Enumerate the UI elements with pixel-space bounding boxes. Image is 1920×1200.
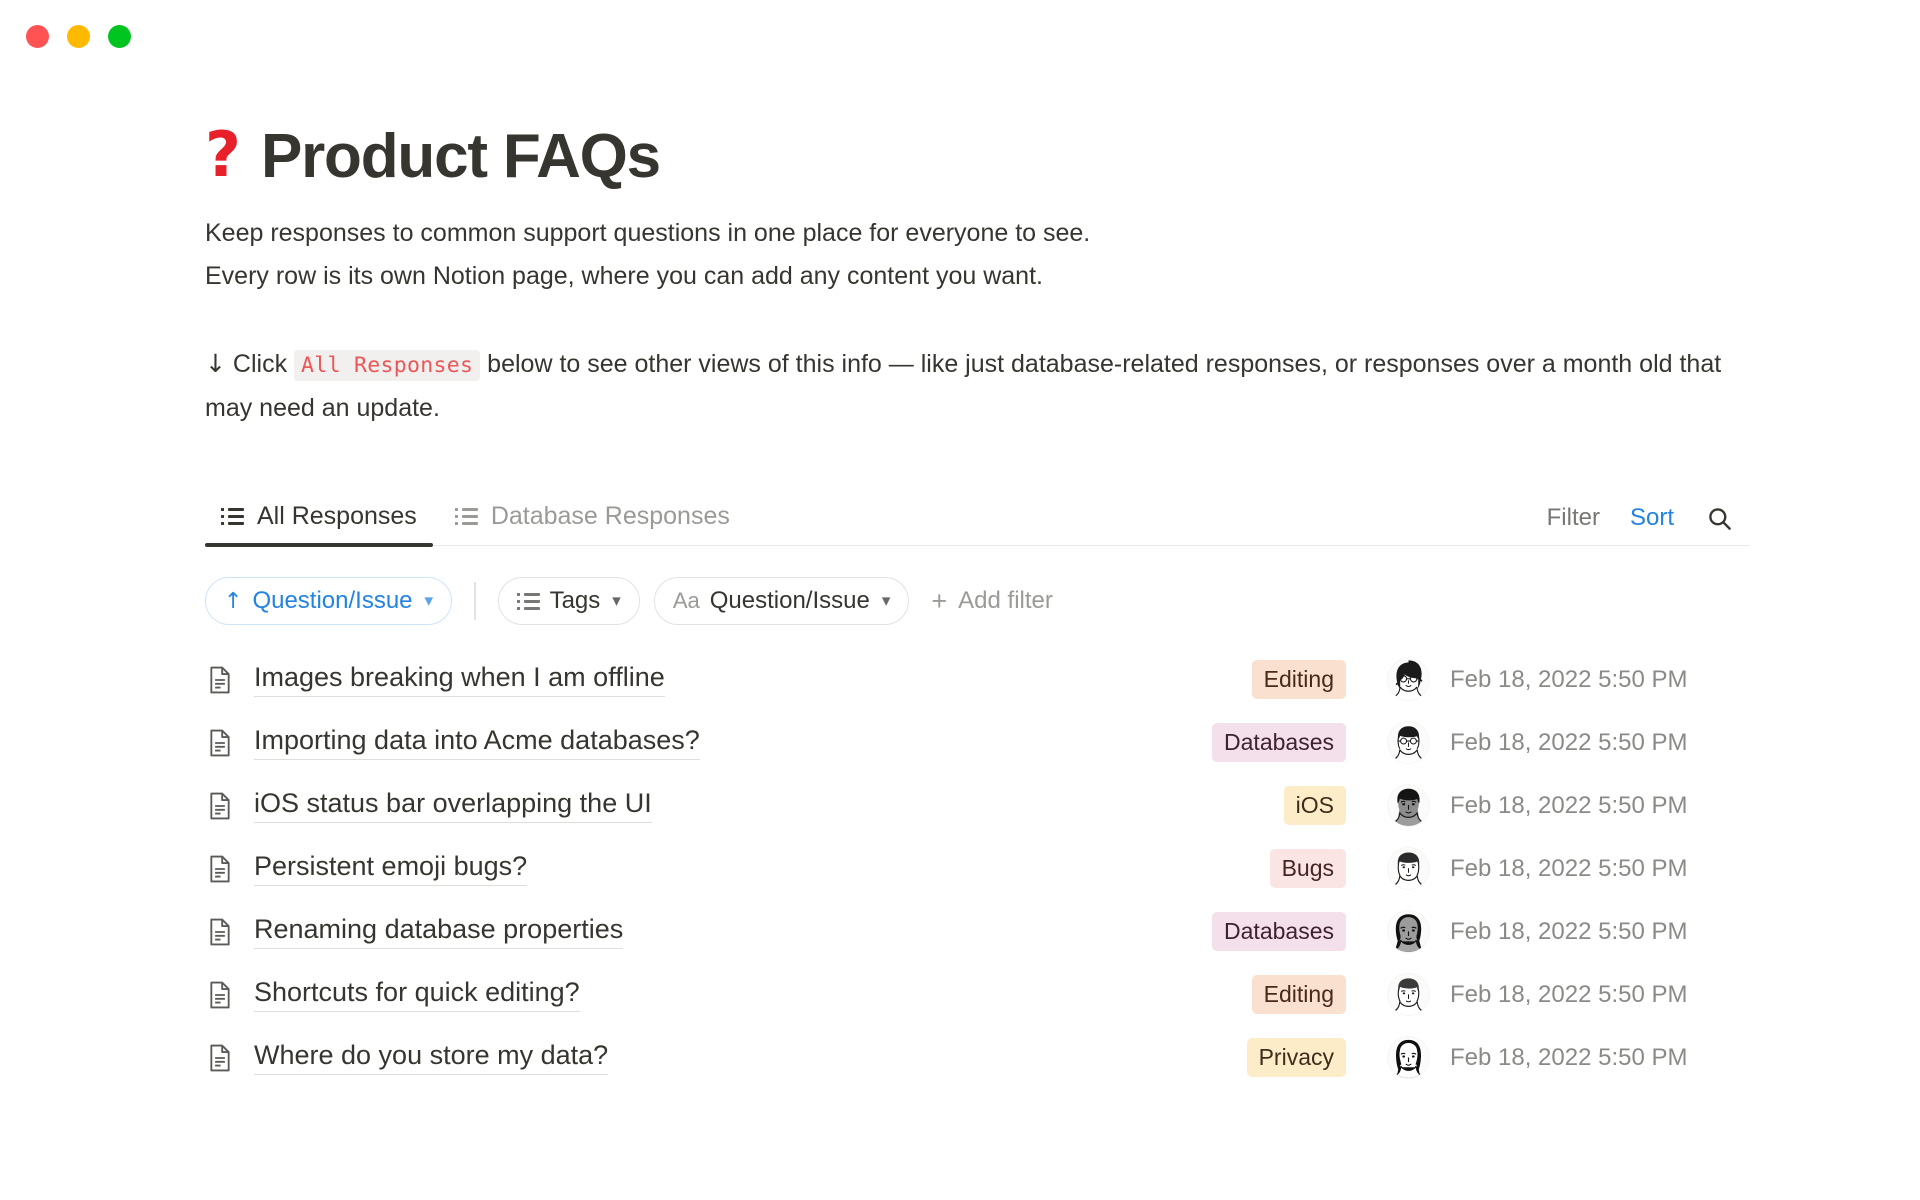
table-row[interactable]: iOS status bar overlapping the UIiOSFeb … [205, 774, 1750, 837]
window-zoom-button[interactable] [108, 25, 131, 48]
row-title[interactable]: Shortcuts for quick editing? [254, 977, 580, 1012]
table-row[interactable]: Where do you store my data?PrivacyFeb 18… [205, 1026, 1750, 1089]
window-minimize-button[interactable] [67, 25, 90, 48]
row-date[interactable]: Feb 18, 2022 5:50 PM [1450, 729, 1750, 757]
status-badge[interactable]: Databases [1212, 912, 1346, 951]
sort-ascending-icon: ↑ [224, 589, 242, 614]
row-tag-cell: Databases [1116, 723, 1366, 762]
description-line-2: Every row is its own Notion page, where … [205, 255, 1750, 298]
page-title: ? Product FAQs [205, 118, 1750, 196]
row-title[interactable]: Images breaking when I am offline [254, 662, 665, 697]
select-list-icon [517, 593, 540, 610]
filter-pill-tags[interactable]: Tags ▾ [498, 577, 640, 625]
filter-sort-pill-bar: ↑ Question/Issue ▾ Tags ▾ Aa Question/Is… [205, 576, 1750, 626]
page-document-icon [205, 852, 235, 886]
row-date[interactable]: Feb 18, 2022 5:50 PM [1450, 792, 1750, 820]
sort-pill-label: Question/Issue [252, 587, 412, 615]
callout-code-chip: All Responses [294, 350, 480, 381]
row-tag-cell: iOS [1116, 786, 1366, 825]
callout-prefix: Click [233, 350, 287, 378]
search-icon[interactable] [1704, 503, 1734, 533]
page-document-icon [205, 726, 235, 760]
row-tag-cell: Privacy [1116, 1038, 1366, 1077]
table-row[interactable]: Persistent emoji bugs?BugsFeb 18, 2022 5… [205, 837, 1750, 900]
avatar[interactable] [1388, 848, 1429, 889]
page-document-icon [205, 1041, 235, 1075]
table-row[interactable]: Renaming database propertiesDatabasesFeb… [205, 900, 1750, 963]
chevron-down-icon: ▾ [425, 591, 434, 611]
avatar[interactable] [1388, 785, 1429, 826]
status-badge[interactable]: Editing [1252, 975, 1346, 1014]
filter-button[interactable]: Filter [1547, 504, 1600, 532]
row-avatar-cell [1366, 974, 1450, 1015]
row-avatar-cell [1366, 848, 1450, 889]
row-tag-cell: Databases [1116, 912, 1366, 951]
row-avatar-cell [1366, 785, 1450, 826]
row-avatar-cell [1366, 659, 1450, 700]
description-line-1: Keep responses to common support questio… [205, 212, 1750, 255]
row-date[interactable]: Feb 18, 2022 5:50 PM [1450, 981, 1750, 1009]
filter-pill-question-issue[interactable]: Aa Question/Issue ▾ [654, 577, 910, 625]
page-title-text[interactable]: Product FAQs [261, 124, 660, 189]
row-avatar-cell [1366, 722, 1450, 763]
table-rows: Images breaking when I am offlineEditing… [205, 648, 1750, 1089]
row-title[interactable]: Renaming database properties [254, 914, 623, 949]
filter-pill-tags-label: Tags [550, 587, 601, 615]
filter-pill-question-issue-label: Question/Issue [710, 587, 870, 615]
avatar[interactable] [1388, 659, 1429, 700]
page-body: ? Product FAQs Keep responses to common … [0, 72, 1920, 1089]
table-row[interactable]: Images breaking when I am offlineEditing… [205, 648, 1750, 711]
row-date[interactable]: Feb 18, 2022 5:50 PM [1450, 918, 1750, 946]
view-toolbar: All Responses Database Responses Filter … [205, 484, 1750, 546]
page-document-icon [205, 915, 235, 949]
row-title[interactable]: Where do you store my data? [254, 1040, 608, 1075]
row-date[interactable]: Feb 18, 2022 5:50 PM [1450, 666, 1750, 694]
down-arrow-icon: ↓ [205, 349, 226, 378]
chevron-down-icon: ▾ [882, 591, 891, 611]
list-icon [221, 508, 244, 525]
row-avatar-cell [1366, 1037, 1450, 1078]
page-document-icon [205, 789, 235, 823]
page-document-icon [205, 663, 235, 697]
row-date[interactable]: Feb 18, 2022 5:50 PM [1450, 1044, 1750, 1072]
status-badge[interactable]: Databases [1212, 723, 1346, 762]
page-document-icon [205, 978, 235, 1012]
row-date[interactable]: Feb 18, 2022 5:50 PM [1450, 855, 1750, 883]
status-badge[interactable]: Bugs [1270, 849, 1346, 888]
row-title[interactable]: Importing data into Acme databases? [254, 725, 700, 760]
chevron-down-icon: ▾ [612, 591, 621, 611]
row-tag-cell: Editing [1116, 660, 1366, 699]
tab-database-responses[interactable]: Database Responses [439, 502, 746, 545]
plus-icon: + [931, 588, 947, 615]
status-badge[interactable]: Editing [1252, 660, 1346, 699]
sort-button[interactable]: Sort [1630, 504, 1674, 532]
avatar[interactable] [1388, 1037, 1429, 1078]
page-description: Keep responses to common support questio… [205, 212, 1750, 298]
add-filter-label: Add filter [958, 587, 1053, 615]
red-question-mark-icon[interactable]: ? [205, 124, 239, 190]
window-close-button[interactable] [26, 25, 49, 48]
status-badge[interactable]: iOS [1284, 786, 1346, 825]
tab-all-responses-label: All Responses [257, 502, 417, 531]
row-title[interactable]: iOS status bar overlapping the UI [254, 788, 652, 823]
view-actions: Filter Sort [1547, 503, 1750, 545]
list-icon [455, 508, 478, 525]
row-tag-cell: Bugs [1116, 849, 1366, 888]
window-titlebar [0, 0, 1920, 72]
avatar[interactable] [1388, 722, 1429, 763]
page-callout: ↓ Click All Responses below to see other… [205, 342, 1725, 430]
row-tag-cell: Editing [1116, 975, 1366, 1014]
add-filter-button[interactable]: + Add filter [931, 587, 1053, 615]
row-avatar-cell [1366, 911, 1450, 952]
tab-database-responses-label: Database Responses [491, 502, 730, 531]
status-badge[interactable]: Privacy [1247, 1038, 1346, 1077]
avatar[interactable] [1388, 911, 1429, 952]
sort-pill-question-issue[interactable]: ↑ Question/Issue ▾ [205, 577, 452, 625]
pill-divider [474, 582, 476, 620]
row-title[interactable]: Persistent emoji bugs? [254, 851, 527, 886]
tab-all-responses[interactable]: All Responses [205, 502, 433, 545]
view-tabs: All Responses Database Responses [205, 502, 746, 545]
table-row[interactable]: Importing data into Acme databases?Datab… [205, 711, 1750, 774]
table-row[interactable]: Shortcuts for quick editing?EditingFeb 1… [205, 963, 1750, 1026]
text-property-icon: Aa [673, 588, 700, 614]
avatar[interactable] [1388, 974, 1429, 1015]
